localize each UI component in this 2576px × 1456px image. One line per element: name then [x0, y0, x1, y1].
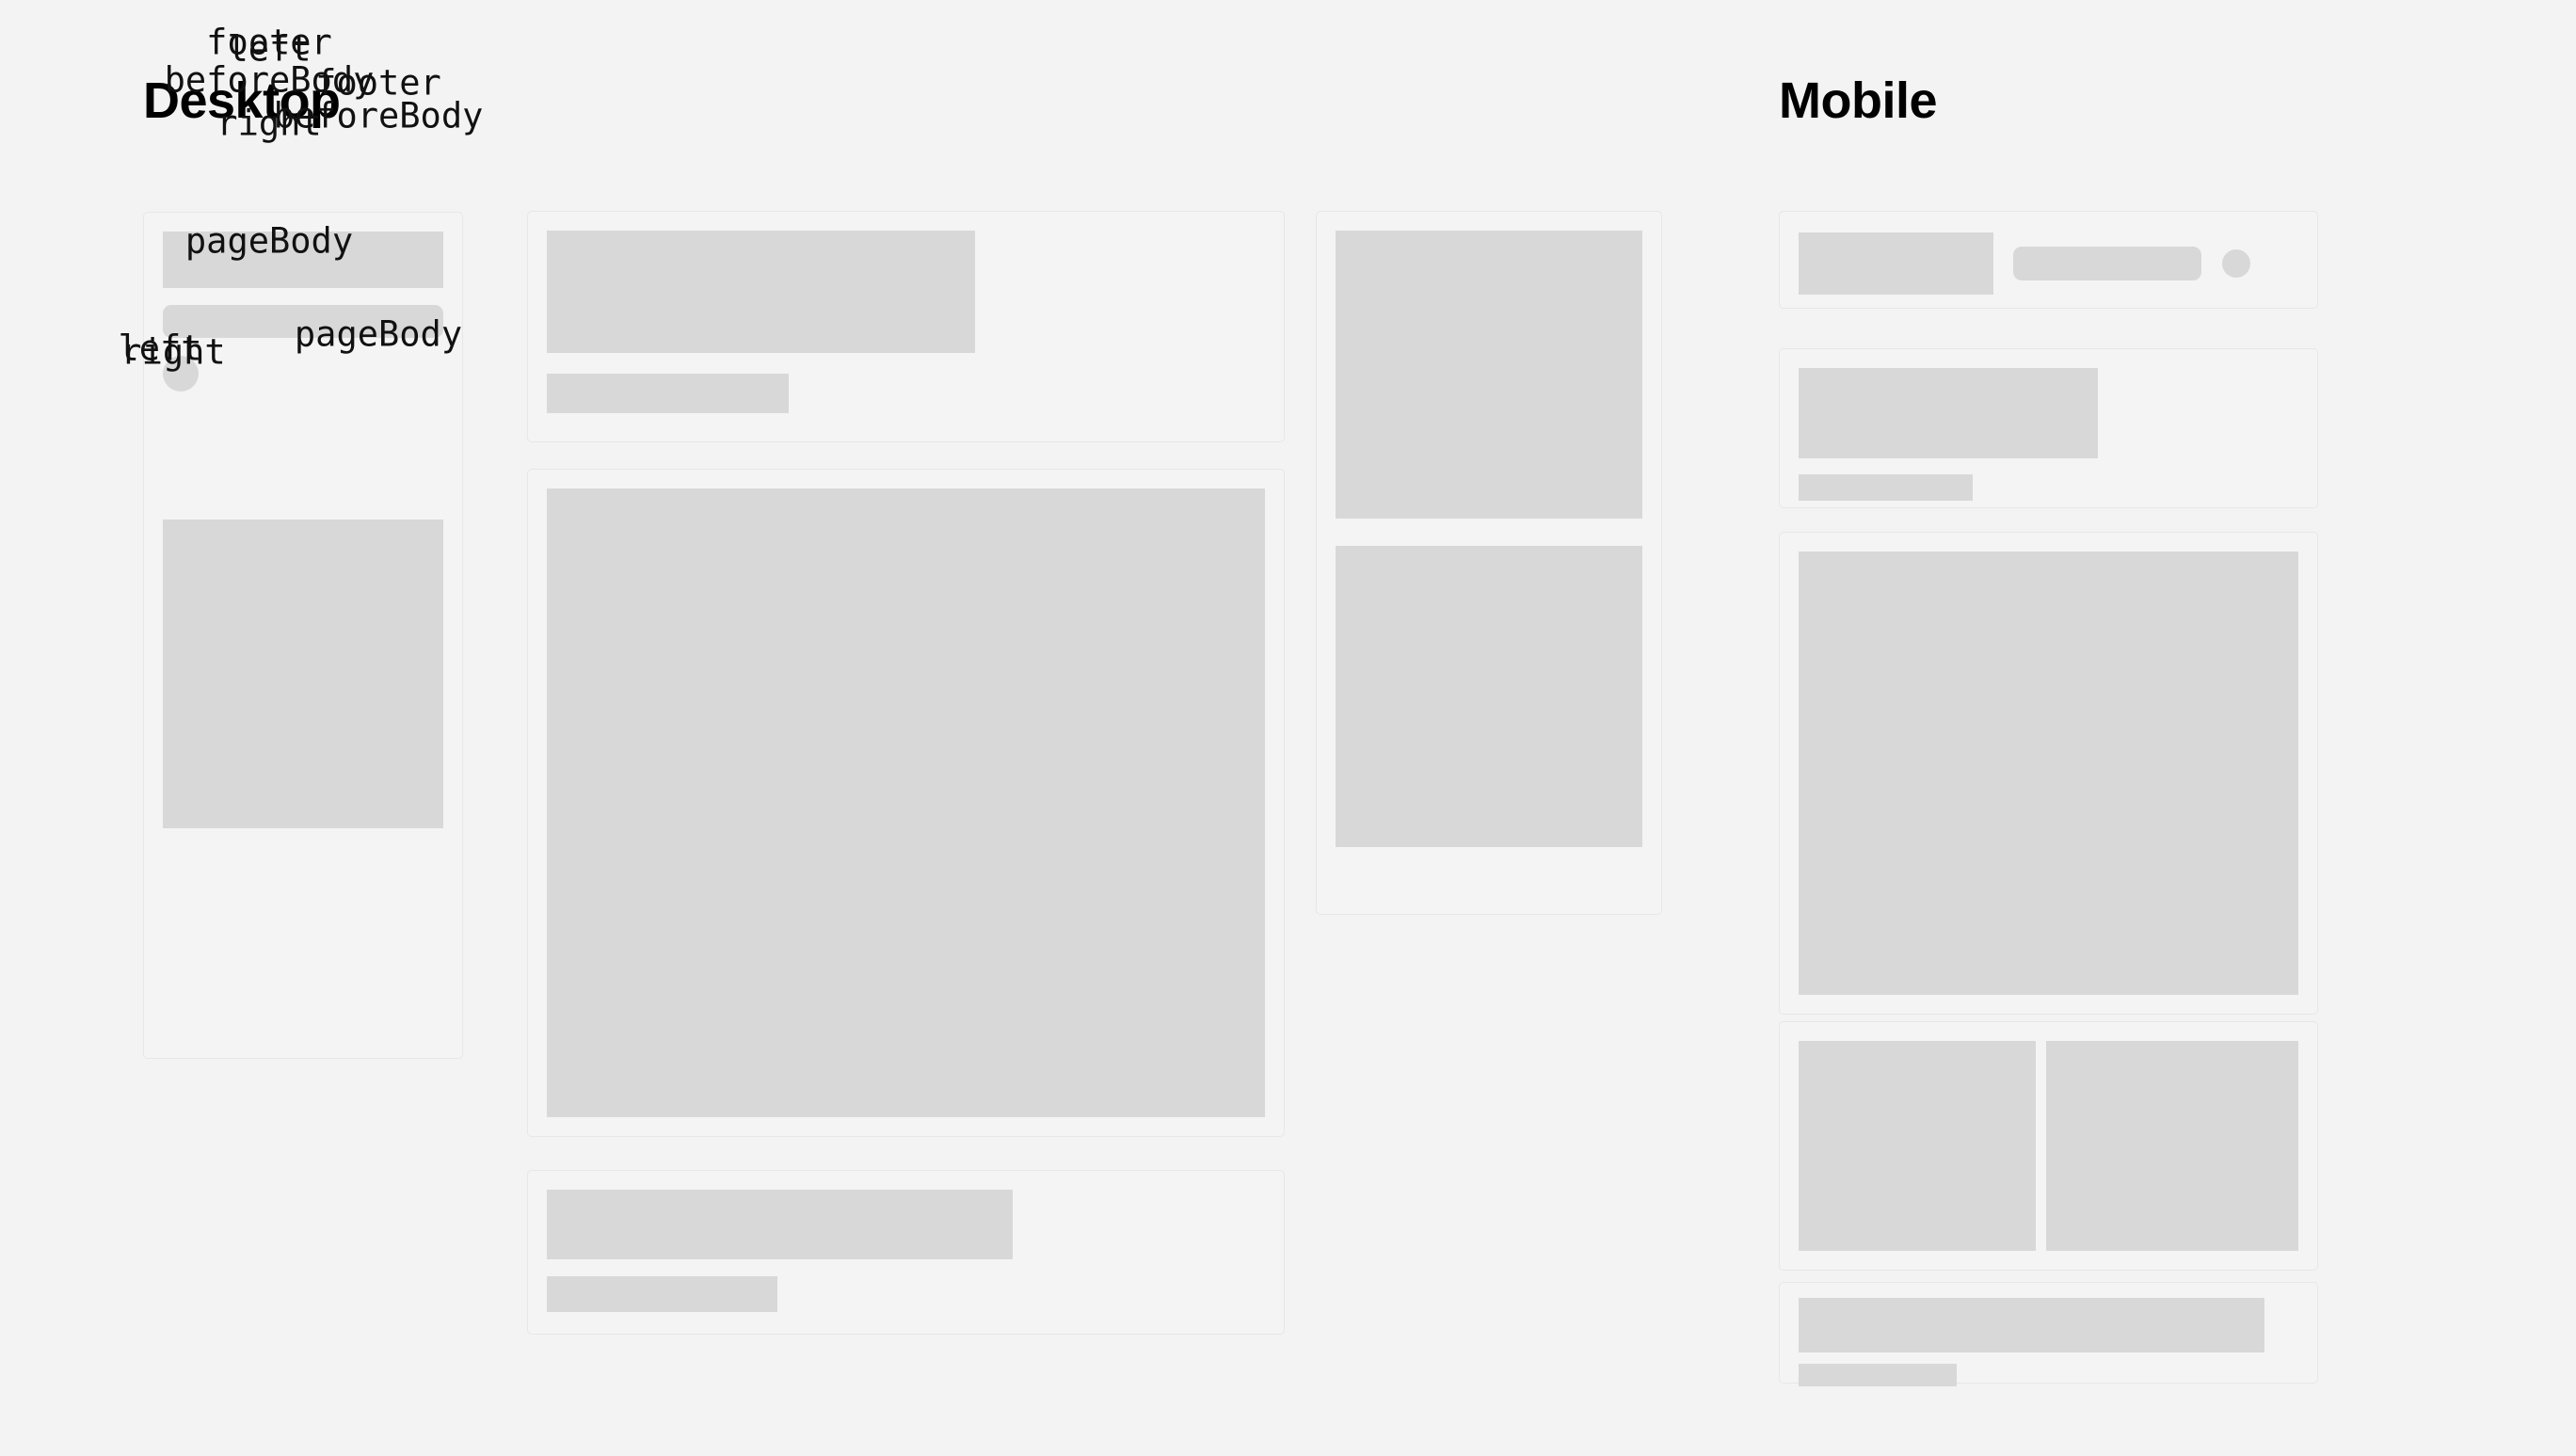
footer-secondary-block — [547, 1276, 777, 1312]
desktop-right-slot-panel[interactable] — [1316, 211, 1662, 915]
nav-search-block — [163, 305, 443, 338]
footer-secondary-block — [1799, 1364, 1957, 1386]
aside-left-block — [1799, 1041, 2036, 1251]
mobile-pagebody-slot-panel[interactable] — [1779, 532, 2318, 1015]
desktop-footer-slot-panel[interactable] — [527, 1170, 1285, 1335]
mobile-right-slot-panel[interactable] — [1779, 1021, 2318, 1271]
nav-content-block — [163, 520, 443, 828]
footer-primary-block — [1799, 1298, 2264, 1352]
aside-top-block — [1336, 231, 1642, 519]
nav-avatar-dot — [163, 356, 199, 392]
mobile-footer-slot-panel[interactable] — [1779, 1282, 2318, 1384]
aside-right-block — [2046, 1041, 2298, 1251]
desktop-left-slot-panel[interactable] — [143, 212, 463, 1059]
banner-block — [1799, 368, 2098, 458]
desktop-beforebody-slot-panel[interactable] — [527, 211, 1285, 442]
aside-bottom-block — [1336, 546, 1642, 847]
section-heading-desktop: Desktop — [143, 75, 341, 126]
nav-logo-block — [163, 232, 443, 288]
body-content-block — [547, 488, 1265, 1117]
mobile-left-slot-label: left — [227, 32, 311, 67]
mobile-footer-slot-label: footer — [206, 25, 332, 60]
caption-block — [547, 374, 789, 413]
banner-block — [547, 231, 975, 353]
caption-block — [1799, 474, 1973, 501]
mobile-left-slot-panel[interactable] — [1779, 211, 2318, 309]
footer-primary-block — [547, 1190, 1013, 1259]
desktop-pagebody-slot-panel[interactable] — [527, 469, 1285, 1137]
nav-search-block — [2013, 247, 2201, 280]
mobile-beforebody-slot-panel[interactable] — [1779, 348, 2318, 508]
nav-avatar-dot — [2222, 249, 2250, 278]
section-heading-mobile: Mobile — [1779, 75, 1937, 126]
nav-logo-block — [1799, 232, 1993, 295]
body-content-block — [1799, 552, 2298, 995]
